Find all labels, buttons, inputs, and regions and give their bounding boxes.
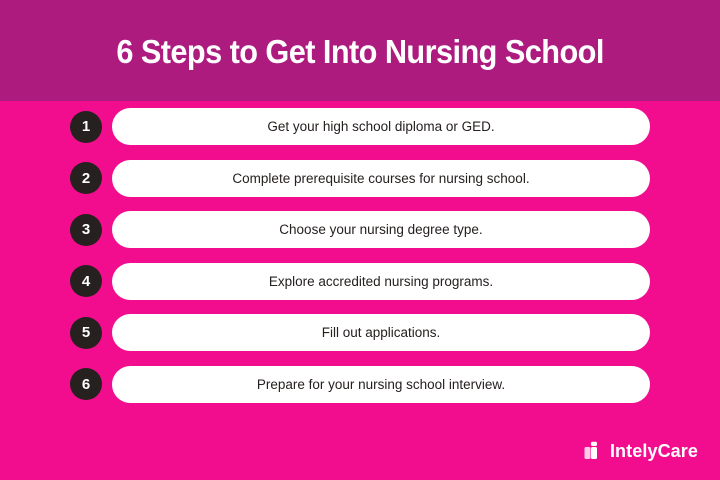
step-number-badge: 4	[70, 265, 102, 297]
step-number-label: 3	[82, 222, 90, 237]
list-item: 2 Complete prerequisite courses for nurs…	[0, 153, 720, 205]
steps-list: 1 Get your high school diploma or GED. 2…	[0, 101, 720, 410]
step-pill: Choose your nursing degree type.	[112, 211, 650, 248]
step-number-label: 5	[82, 325, 90, 340]
logo-wordmark: IntelyCare	[610, 442, 698, 460]
step-number-badge: 5	[70, 317, 102, 349]
step-pill: Prepare for your nursing school intervie…	[112, 366, 650, 403]
intelycare-blocks-icon	[584, 441, 603, 460]
step-number-badge: 1	[70, 111, 102, 143]
step-text: Choose your nursing degree type.	[265, 223, 496, 237]
step-text: Prepare for your nursing school intervie…	[243, 378, 519, 392]
step-text: Fill out applications.	[308, 326, 455, 340]
header-band: 6 Steps to Get Into Nursing School	[0, 0, 720, 101]
list-item: 5 Fill out applications.	[0, 307, 720, 359]
list-item: 6 Prepare for your nursing school interv…	[0, 359, 720, 411]
list-item: 3 Choose your nursing degree type.	[0, 204, 720, 256]
step-number-badge: 3	[70, 214, 102, 246]
step-pill: Complete prerequisite courses for nursin…	[112, 160, 650, 197]
step-number-label: 2	[82, 171, 90, 186]
step-number-badge: 6	[70, 368, 102, 400]
step-pill: Get your high school diploma or GED.	[112, 108, 650, 145]
list-item: 4 Explore accredited nursing programs.	[0, 256, 720, 308]
infographic-canvas: 6 Steps to Get Into Nursing School 1 Get…	[0, 0, 720, 480]
step-number-label: 1	[82, 119, 90, 134]
page-title: 6 Steps to Get Into Nursing School	[116, 35, 603, 68]
list-item: 1 Get your high school diploma or GED.	[0, 101, 720, 153]
step-pill: Explore accredited nursing programs.	[112, 263, 650, 300]
step-number-label: 4	[82, 274, 90, 289]
step-number-label: 6	[82, 377, 90, 392]
step-text: Explore accredited nursing programs.	[255, 275, 507, 289]
brand-logo: IntelyCare	[584, 441, 698, 460]
step-text: Complete prerequisite courses for nursin…	[218, 172, 543, 186]
step-pill: Fill out applications.	[112, 314, 650, 351]
step-text: Get your high school diploma or GED.	[253, 120, 508, 134]
step-number-badge: 2	[70, 162, 102, 194]
